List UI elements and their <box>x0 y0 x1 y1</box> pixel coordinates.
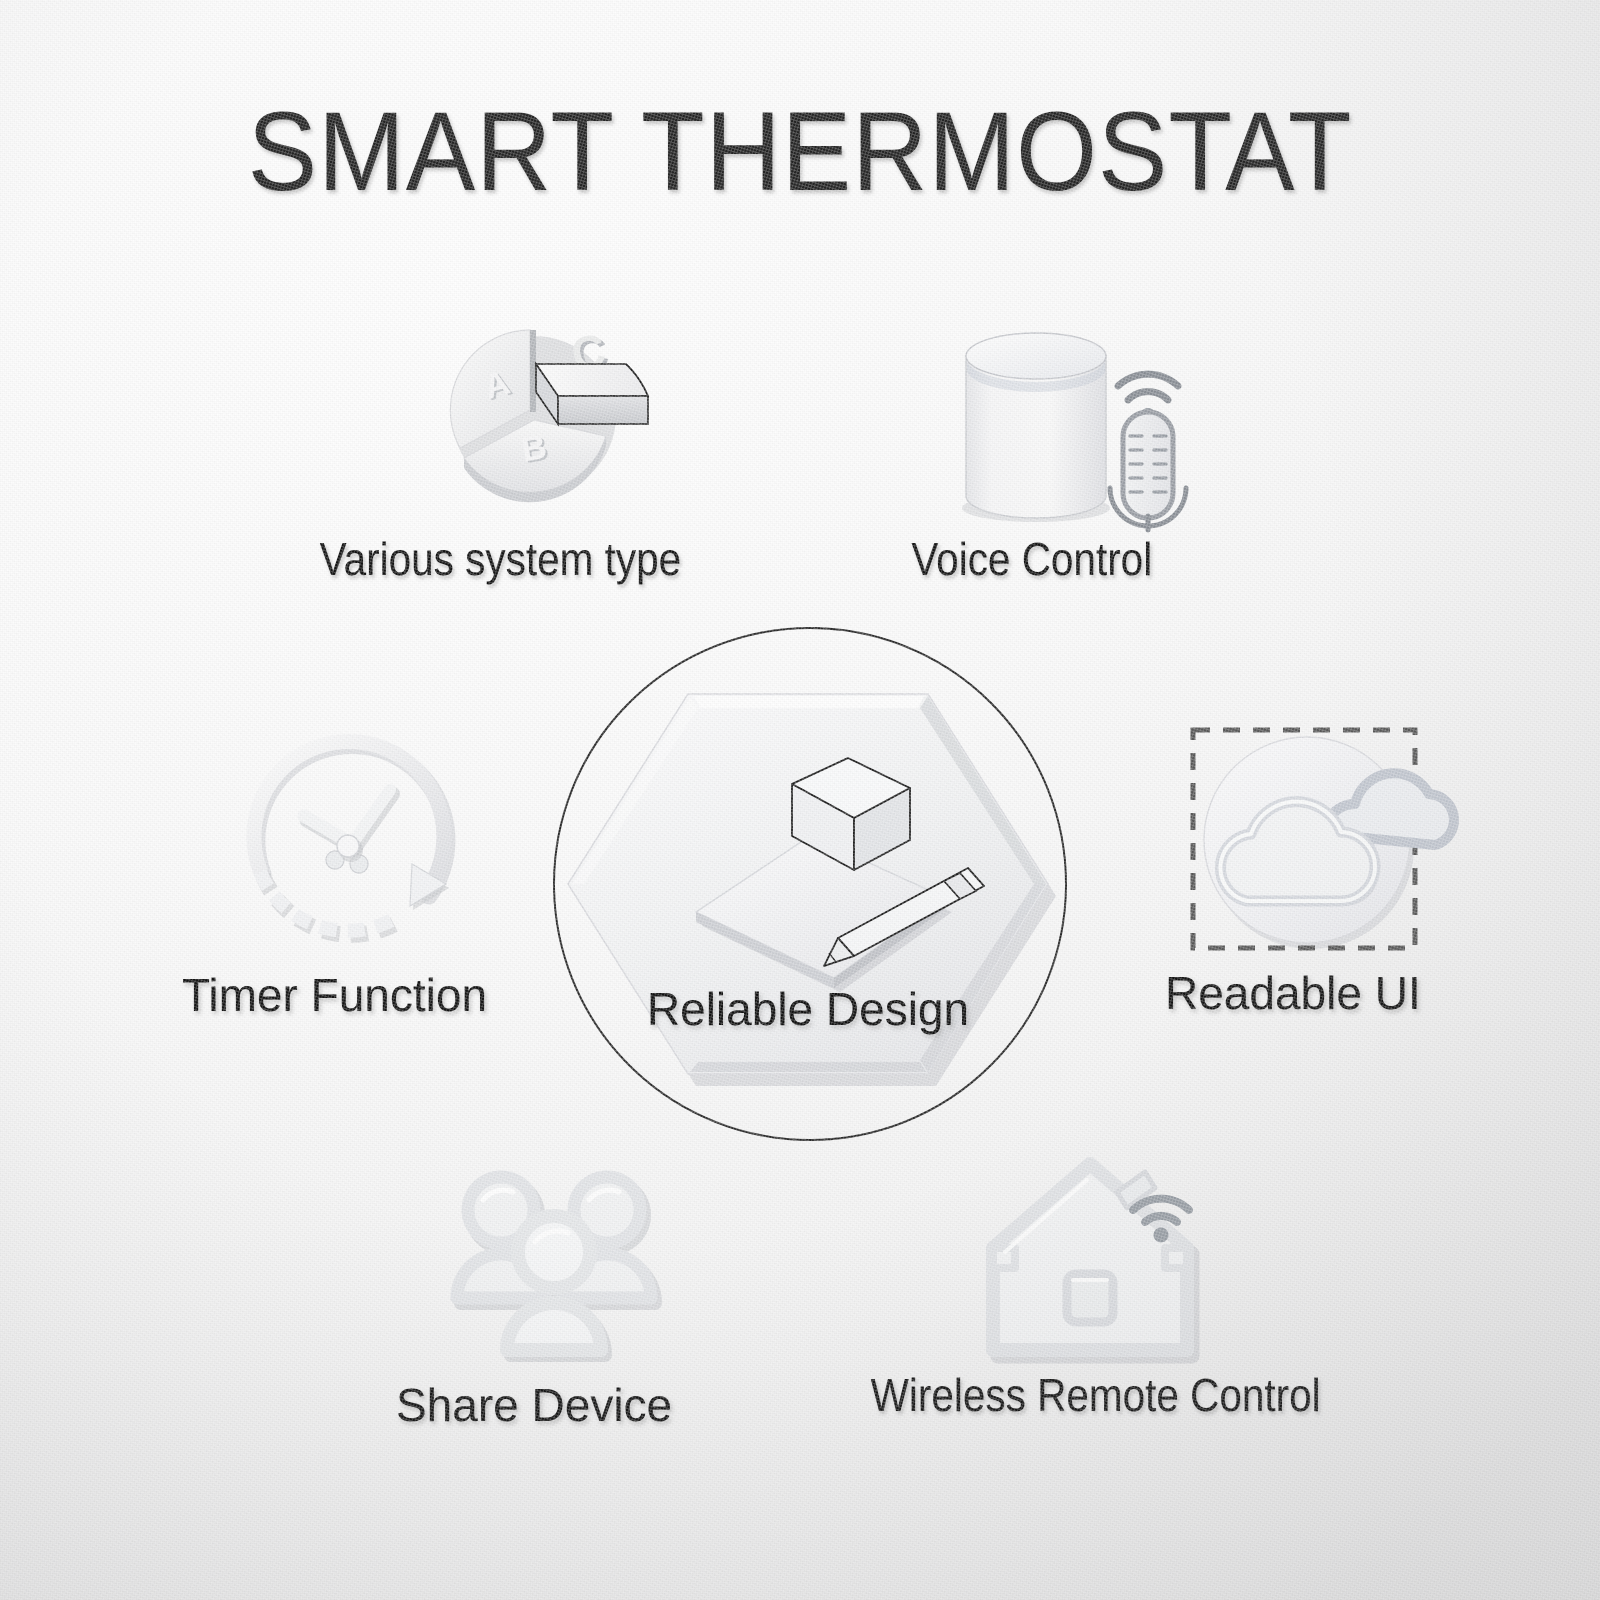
cloud-in-dashed-frame-icon <box>1175 720 1435 970</box>
feature-label-wireless-remote-control: Wireless Remote Control <box>871 1372 1321 1418</box>
feature-label-timer-function: Timer Function <box>182 972 487 1018</box>
feature-various-system-type[interactable]: A A B B C C Various system <box>300 300 800 600</box>
feature-wireless-remote-control[interactable]: Wireless Remote Control <box>840 1140 1340 1440</box>
feature-readable-ui[interactable]: Readable UI <box>1130 720 1510 1040</box>
feature-timer-function[interactable]: Timer Function <box>170 740 570 1040</box>
smart-speaker-microphone-icon <box>960 320 1190 530</box>
feature-label-share-device: Share Device <box>396 1382 672 1428</box>
center-feature-label: Reliable Design <box>548 982 1068 1036</box>
page-title: SMART THERMOSTAT <box>56 96 1544 208</box>
feature-label-readable-ui: Readable UI <box>1165 970 1421 1016</box>
feature-label-various-system-type: Various system type <box>320 536 681 582</box>
pie-chart-3d-icon: A A B B C C <box>430 300 680 530</box>
infographic-canvas: SMART THERMOSTAT <box>0 0 1600 1600</box>
center-feature-reliable-design[interactable]: Reliable Design <box>548 622 1068 1142</box>
feature-share-device[interactable]: Share Device <box>380 1160 780 1460</box>
clock-rotate-arrow-icon <box>240 740 470 960</box>
feature-voice-control[interactable]: Voice Control <box>880 300 1310 600</box>
house-wifi-antenna-icon <box>975 1140 1205 1370</box>
feature-label-voice-control: Voice Control <box>911 536 1152 582</box>
reliable-design-hexagon <box>548 622 1068 1142</box>
three-people-group-icon <box>435 1160 675 1360</box>
